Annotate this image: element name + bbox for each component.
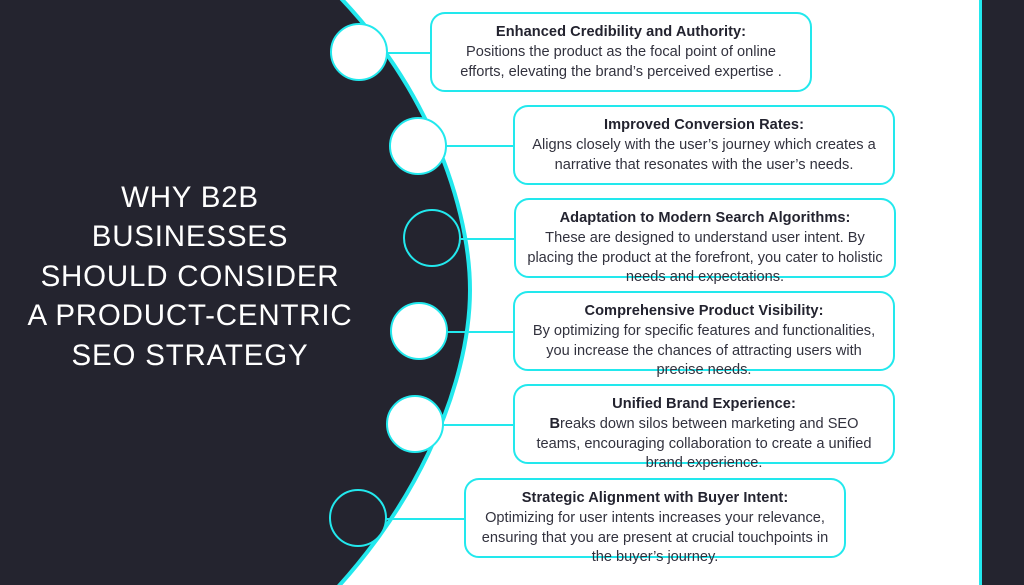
connector-3 — [459, 238, 516, 240]
card-heading: Strategic Alignment with Buyer Intent: — [477, 489, 833, 508]
card-body: Aligns closely with the user’s journey w… — [526, 136, 882, 175]
card-body: These are designed to understand user in… — [527, 229, 883, 287]
card-body-text: Optimizing for user intents increases yo… — [482, 510, 828, 565]
card-adaptation-modern-search-algorithms[interactable]: Adaptation to Modern Search Algorithms: … — [514, 198, 896, 278]
card-lead: B — [549, 416, 560, 432]
card-body-text: reaks down silos between marketing and S… — [536, 416, 871, 471]
card-heading: Enhanced Credibility and Authority: — [443, 23, 799, 42]
card-improved-conversion-rates[interactable]: Improved Conversion Rates: Aligns closel… — [513, 105, 895, 185]
card-heading: Unified Brand Experience: — [526, 395, 882, 414]
connector-1 — [386, 52, 432, 54]
node-5[interactable] — [386, 395, 444, 453]
infographic-canvas: WHY B2B BUSINESSES SHOULD CONSIDER A PRO… — [0, 0, 1024, 585]
node-3[interactable] — [403, 209, 461, 267]
card-body: Breaks down silos between marketing and … — [526, 415, 882, 473]
card-comprehensive-product-visibility[interactable]: Comprehensive Product Visibility: By opt… — [513, 291, 895, 371]
node-1[interactable] — [330, 23, 388, 81]
card-strategic-alignment-buyer-intent[interactable]: Strategic Alignment with Buyer Intent: O… — [464, 478, 846, 558]
card-unified-brand-experience[interactable]: Unified Brand Experience: Breaks down si… — [513, 384, 895, 464]
right-dark-panel — [982, 0, 1024, 585]
card-enhanced-credibility[interactable]: Enhanced Credibility and Authority: Posi… — [430, 12, 812, 92]
page-title: WHY B2B BUSINESSES SHOULD CONSIDER A PRO… — [20, 178, 360, 375]
connector-5 — [442, 424, 515, 426]
card-body-text: Aligns closely with the user’s journey w… — [532, 137, 875, 172]
node-6[interactable] — [329, 489, 387, 547]
connector-4 — [446, 331, 515, 333]
connector-6 — [385, 518, 465, 520]
card-body: Positions the product as the focal point… — [443, 43, 799, 82]
card-body-text: Positions the product as the focal point… — [460, 44, 782, 79]
card-heading: Adaptation to Modern Search Algorithms: — [527, 209, 883, 228]
card-body-text: By optimizing for specific features and … — [533, 323, 875, 378]
connector-2 — [445, 145, 515, 147]
node-4[interactable] — [390, 302, 448, 360]
card-body: By optimizing for specific features and … — [526, 322, 882, 380]
card-body-text: These are designed to understand user in… — [527, 230, 882, 285]
card-heading: Improved Conversion Rates: — [526, 116, 882, 135]
card-body: Optimizing for user intents increases yo… — [477, 509, 833, 567]
node-2[interactable] — [389, 117, 447, 175]
card-heading: Comprehensive Product Visibility: — [526, 302, 882, 321]
